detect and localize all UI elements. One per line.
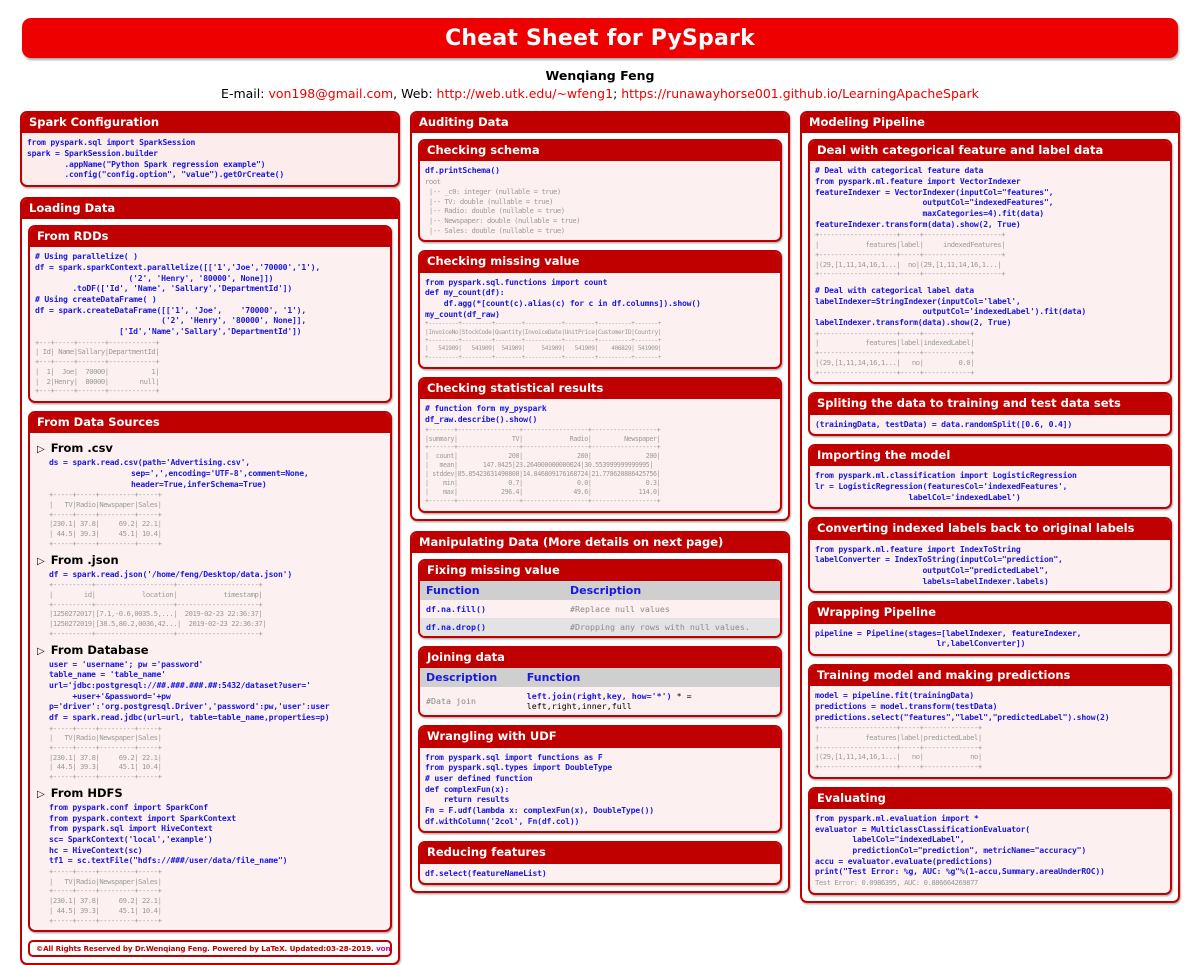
web-link-2[interactable]: https://runawayhorse001.github.io/Learni… [621,86,979,101]
column-right: Modeling Pipeline Deal with categorical … [800,111,1180,965]
output-table: +-----+-----+---------+-----+ | TV|Radio… [49,867,385,925]
subsection-body: pipeline = Pipeline(stages=[labelIndexer… [810,624,1170,654]
section-title: Auditing Data [412,113,788,133]
subsection-title: Training model and making predictions [810,666,1170,686]
subsection-title: Checking statistical results [420,379,780,399]
code-block: df = spark.createDataFrame([['1', 'Joe',… [35,305,385,337]
output-table: +----------+--------------------+-------… [49,580,385,638]
subsection-title: Evaluating [810,789,1170,809]
subsection-title: From RDDs [30,227,390,247]
subsection-body: from pyspark.ml.feature import IndexToSt… [810,540,1170,592]
column-middle: Auditing Data Checking schema df.printSc… [410,111,790,965]
code-block: labelIndexer=StringIndexer(inputCol='lab… [815,296,1165,328]
fixing-missing-table: Function Description df.na.fill() #Repla… [420,581,780,636]
subsection-body: # Deal with categorical feature data fro… [810,161,1170,382]
subsection-body: model = pipeline.fit(trainingData) predi… [810,686,1170,777]
subsection-body: df.select(featureNameList) [420,864,780,884]
code-line: ds = spark.read.csv(path='Advertising.cs… [49,457,385,468]
subsection-title: Joining data [420,648,780,668]
subsection-title: Deal with categorical feature and label … [810,141,1170,161]
web-label: , Web: [393,86,436,101]
page-title: Cheat Sheet for PySpark [445,26,755,51]
code-comment: # Using createDataFrame( ) [35,294,385,305]
section-body: From RDDs # Using parallelize( ) df = sp… [22,219,398,963]
column-left: Spark Configuration from pyspark.sql imp… [20,111,400,965]
subsection-converting-labels: Converting indexed labels back to origin… [808,517,1172,593]
cell-function: left.join(right,key, how='*') * = left,r… [521,687,780,715]
columns-container: Spark Configuration from pyspark.sql imp… [0,101,1200,965]
code-block: from pyspark.conf import SparkConf from … [49,802,385,866]
section-title: Spark Configuration [22,113,398,133]
subsection-from-rdds: From RDDs # Using parallelize( ) df = sp… [28,225,392,403]
section-auditing-data: Auditing Data Checking schema df.printSc… [410,111,790,521]
output-table: +--------------------+-----+------------… [815,230,1165,279]
code-comment: # Using parallelize( ) [35,251,385,262]
section-loading-data: Loading Data From RDDs # Using paralleli… [20,197,400,965]
column-header-function: Function [420,581,564,600]
subsection-importing-model: Importing the model from pyspark.ml.clas… [808,444,1172,509]
bullet-from-json: ▷ From .json [37,553,385,567]
code-block: df_raw.describe().show() [425,414,775,425]
bullet-from-csv: ▷ From .csv [37,441,385,455]
output-table: +---+-----+-------+------------+ | Id| N… [35,338,385,396]
cell-description: #Data join [420,687,521,715]
code-block: from pyspark.sql import functions as F f… [425,752,775,773]
table-header-row: Description Function [420,668,780,687]
section-modeling-pipeline: Modeling Pipeline Deal with categorical … [800,111,1180,903]
bullet-label: From .csv [51,441,113,455]
footer-powered: Powered by LaTeX. [212,944,287,953]
page-title-banner: Cheat Sheet for PySpark [22,18,1178,58]
bullet-from-database: ▷ From Database [37,643,385,657]
subsection-body: # function form my_pyspark df_raw.descri… [420,399,780,510]
section-title: Loading Data [22,199,398,219]
subsection-title: Checking missing value [420,252,780,272]
column-header-function: Function [521,668,780,687]
bullet-triangle-icon: ▷ [37,444,45,455]
contact-line: E-mail: von198@gmail.com, Web: http://we… [0,86,1200,101]
subsection-body: from pyspark.ml.evaluation import * eval… [810,809,1170,893]
cell-function: df.na.drop() [420,618,564,636]
email-label: E-mail: [221,86,268,101]
subsection-evaluating: Evaluating from pyspark.ml.evaluation im… [808,787,1172,895]
subsection-title: Checking schema [420,141,780,161]
column-header-description: Description [564,581,780,600]
subsection-training-predictions: Training model and making predictions mo… [808,664,1172,779]
code-line-args: sep=',',encoding='UTF-8',comment=None, [49,468,385,479]
section-body: Deal with categorical feature and label … [802,133,1178,901]
subsection-title: Wrangling with UDF [420,727,780,747]
join-function-text: left.join(right,key, how='*') [527,691,672,701]
output-table: +--------------------+-----+------------… [815,723,1165,772]
bullet-label: From HDFS [51,786,123,800]
code-block: df = spark.read.json('/home/feng/Desktop… [49,569,385,580]
subsection-title: Importing the model [810,446,1170,466]
page-footer: ©All Rights Reserved by Dr.Wenqiang Feng… [28,940,392,957]
email-link[interactable]: von198@gmail.com [268,86,393,101]
cell-function: df.na.fill() [420,600,564,618]
code-block: from pyspark.ml.feature import VectorInd… [815,176,1165,229]
code-comment: # Deal with categorical label data [815,285,1165,296]
code-block: df.select(featureNameList) [425,868,775,879]
subsection-body: df.printSchema() root |-- _c0: integer (… [420,161,780,240]
output-table: +-------+-----------------+-------------… [425,426,775,506]
output-table: +-----+-----+---------+-----+ | TV|Radio… [49,724,385,782]
code-block: from pyspark.ml.classification import Lo… [815,470,1165,502]
code-comment: # Deal with categorical feature data [815,165,1165,176]
code-block: model = pipeline.fit(trainingData) predi… [815,690,1165,722]
subsection-title: Spliting the data to training and test d… [810,394,1170,414]
subsection-wrangling-with-udf: Wrangling with UDF from pyspark.sql impo… [418,725,782,833]
author-name: Wenqiang Feng [0,68,1200,83]
subsection-checking-statistical-results: Checking statistical results # function … [418,377,782,513]
output-table: +--------------------+-----+------------… [815,329,1165,378]
footer-email: von198@gmail.com [376,944,392,953]
subsection-from-data-sources: From Data Sources ▷ From .csv ds = spark… [28,411,392,932]
subsection-body: from pyspark.sql import functions as F f… [420,748,780,832]
subsection-title: Wrapping Pipeline [810,603,1170,623]
subsection-splitting-data: Spliting the data to training and test d… [808,392,1172,436]
subsection-checking-schema: Checking schema df.printSchema() root |-… [418,139,782,242]
subsection-title: Converting indexed labels back to origin… [810,519,1170,539]
subsection-body: from pyspark.ml.classification import Lo… [810,466,1170,507]
code-comment: # user defined function [425,773,775,784]
bullet-triangle-icon: ▷ [37,646,45,657]
output-schema: root |-- _c0: integer (nullable = true) … [425,177,775,235]
csv-block: ds = spark.read.csv(path='Advertising.cs… [35,457,385,548]
subsection-body: (trainingData, testData) = data.randomSp… [810,415,1170,435]
cheatsheet-page: Cheat Sheet for PySpark Wenqiang Feng E-… [0,18,1200,945]
bullet-from-hdfs: ▷ From HDFS [37,786,385,800]
code-block: from pyspark.ml.evaluation import * eval… [815,813,1165,877]
subsection-categorical-feature-label: Deal with categorical feature and label … [808,139,1172,384]
section-body: Fixing missing value Function Descriptio… [412,553,788,891]
subsection-checking-missing-value: Checking missing value from pyspark.sql.… [418,250,782,369]
code-block: from pyspark.sql.functions import count … [425,277,775,320]
subsection-body: from pyspark.sql.functions import count … [420,273,780,367]
table-row: df.na.drop() #Dropping any rows with nul… [420,618,780,636]
table-header-row: Function Description [420,581,780,600]
code-block: (trainingData, testData) = data.randomSp… [815,419,1165,430]
subsection-title: Fixing missing value [420,561,780,581]
section-title: Modeling Pipeline [802,113,1178,133]
bullet-label: From Database [51,643,149,657]
subsection-body: # Using parallelize( ) df = spark.sparkC… [30,247,390,401]
table-row: #Data join left.join(right,key, how='*')… [420,687,780,715]
section-spark-configuration: Spark Configuration from pyspark.sql imp… [20,111,400,187]
code-block: from pyspark.ml.feature import IndexToSt… [815,544,1165,587]
database-block: user = 'username'; pw ='password' table_… [35,659,385,782]
footer-updated: Updated:03-28-2019. [290,944,374,953]
subsection-title: Reducing features [420,843,780,863]
bullet-label: From .json [51,553,119,567]
bullet-triangle-icon: ▷ [37,789,45,800]
code-block: from pyspark.sql import SparkSession spa… [27,137,393,180]
column-header-description: Description [420,668,521,687]
joining-data-table: Description Function #Data join left.joi… [420,668,780,715]
output-table: +---------+---------+--------+----------… [425,320,775,362]
json-block: df = spark.read.json('/home/feng/Desktop… [35,569,385,639]
subsection-body: ▷ From .csv ds = spark.read.csv(path='Ad… [30,433,390,930]
output-result: Test Error: 0.0986395, AUC: 0.8866642698… [815,878,1165,888]
cell-description: #Dropping any rows with null values. [564,618,780,636]
code-block: df = spark.sparkContext.parallelize([['1… [35,262,385,294]
table-row: df.na.fill() #Replace null values [420,600,780,618]
code-line-end: header=True,inferSchema=True) [49,479,385,490]
code-block: df.printSchema() [425,165,775,176]
subsection-joining-data: Joining data Description Function #Data … [418,646,782,717]
subsection-reducing-features: Reducing features df.select(featureNameL… [418,841,782,885]
code-block: pipeline = Pipeline(stages=[labelIndexer… [815,628,1165,649]
hdfs-block: from pyspark.conf import SparkConf from … [35,802,385,925]
code-block: user = 'username'; pw ='password' table_… [49,659,385,723]
output-table: +-----+-----+---------+-----+ | TV|Radio… [49,490,385,548]
subsection-title: From Data Sources [30,413,390,433]
section-body: from pyspark.sql import SparkSession spa… [22,133,398,185]
bullet-triangle-icon: ▷ [37,556,45,567]
web-link-1[interactable]: http://web.utk.edu/~wfeng1 [437,86,614,101]
subsection-fixing-missing-value: Fixing missing value Function Descriptio… [418,559,782,638]
code-block: def complexFun(x): return results Fn = F… [425,784,775,827]
footer-rights: ©All Rights Reserved by Dr.Wenqiang Feng… [36,944,210,953]
section-body: Checking schema df.printSchema() root |-… [412,133,788,518]
section-title: Manipulating Data (More details on next … [412,533,788,553]
code-comment: # function form my_pyspark [425,403,775,414]
cell-description: #Replace null values [564,600,780,618]
section-manipulating-data: Manipulating Data (More details on next … [410,531,790,893]
subsection-wrapping-pipeline: Wrapping Pipeline pipeline = Pipeline(st… [808,601,1172,656]
